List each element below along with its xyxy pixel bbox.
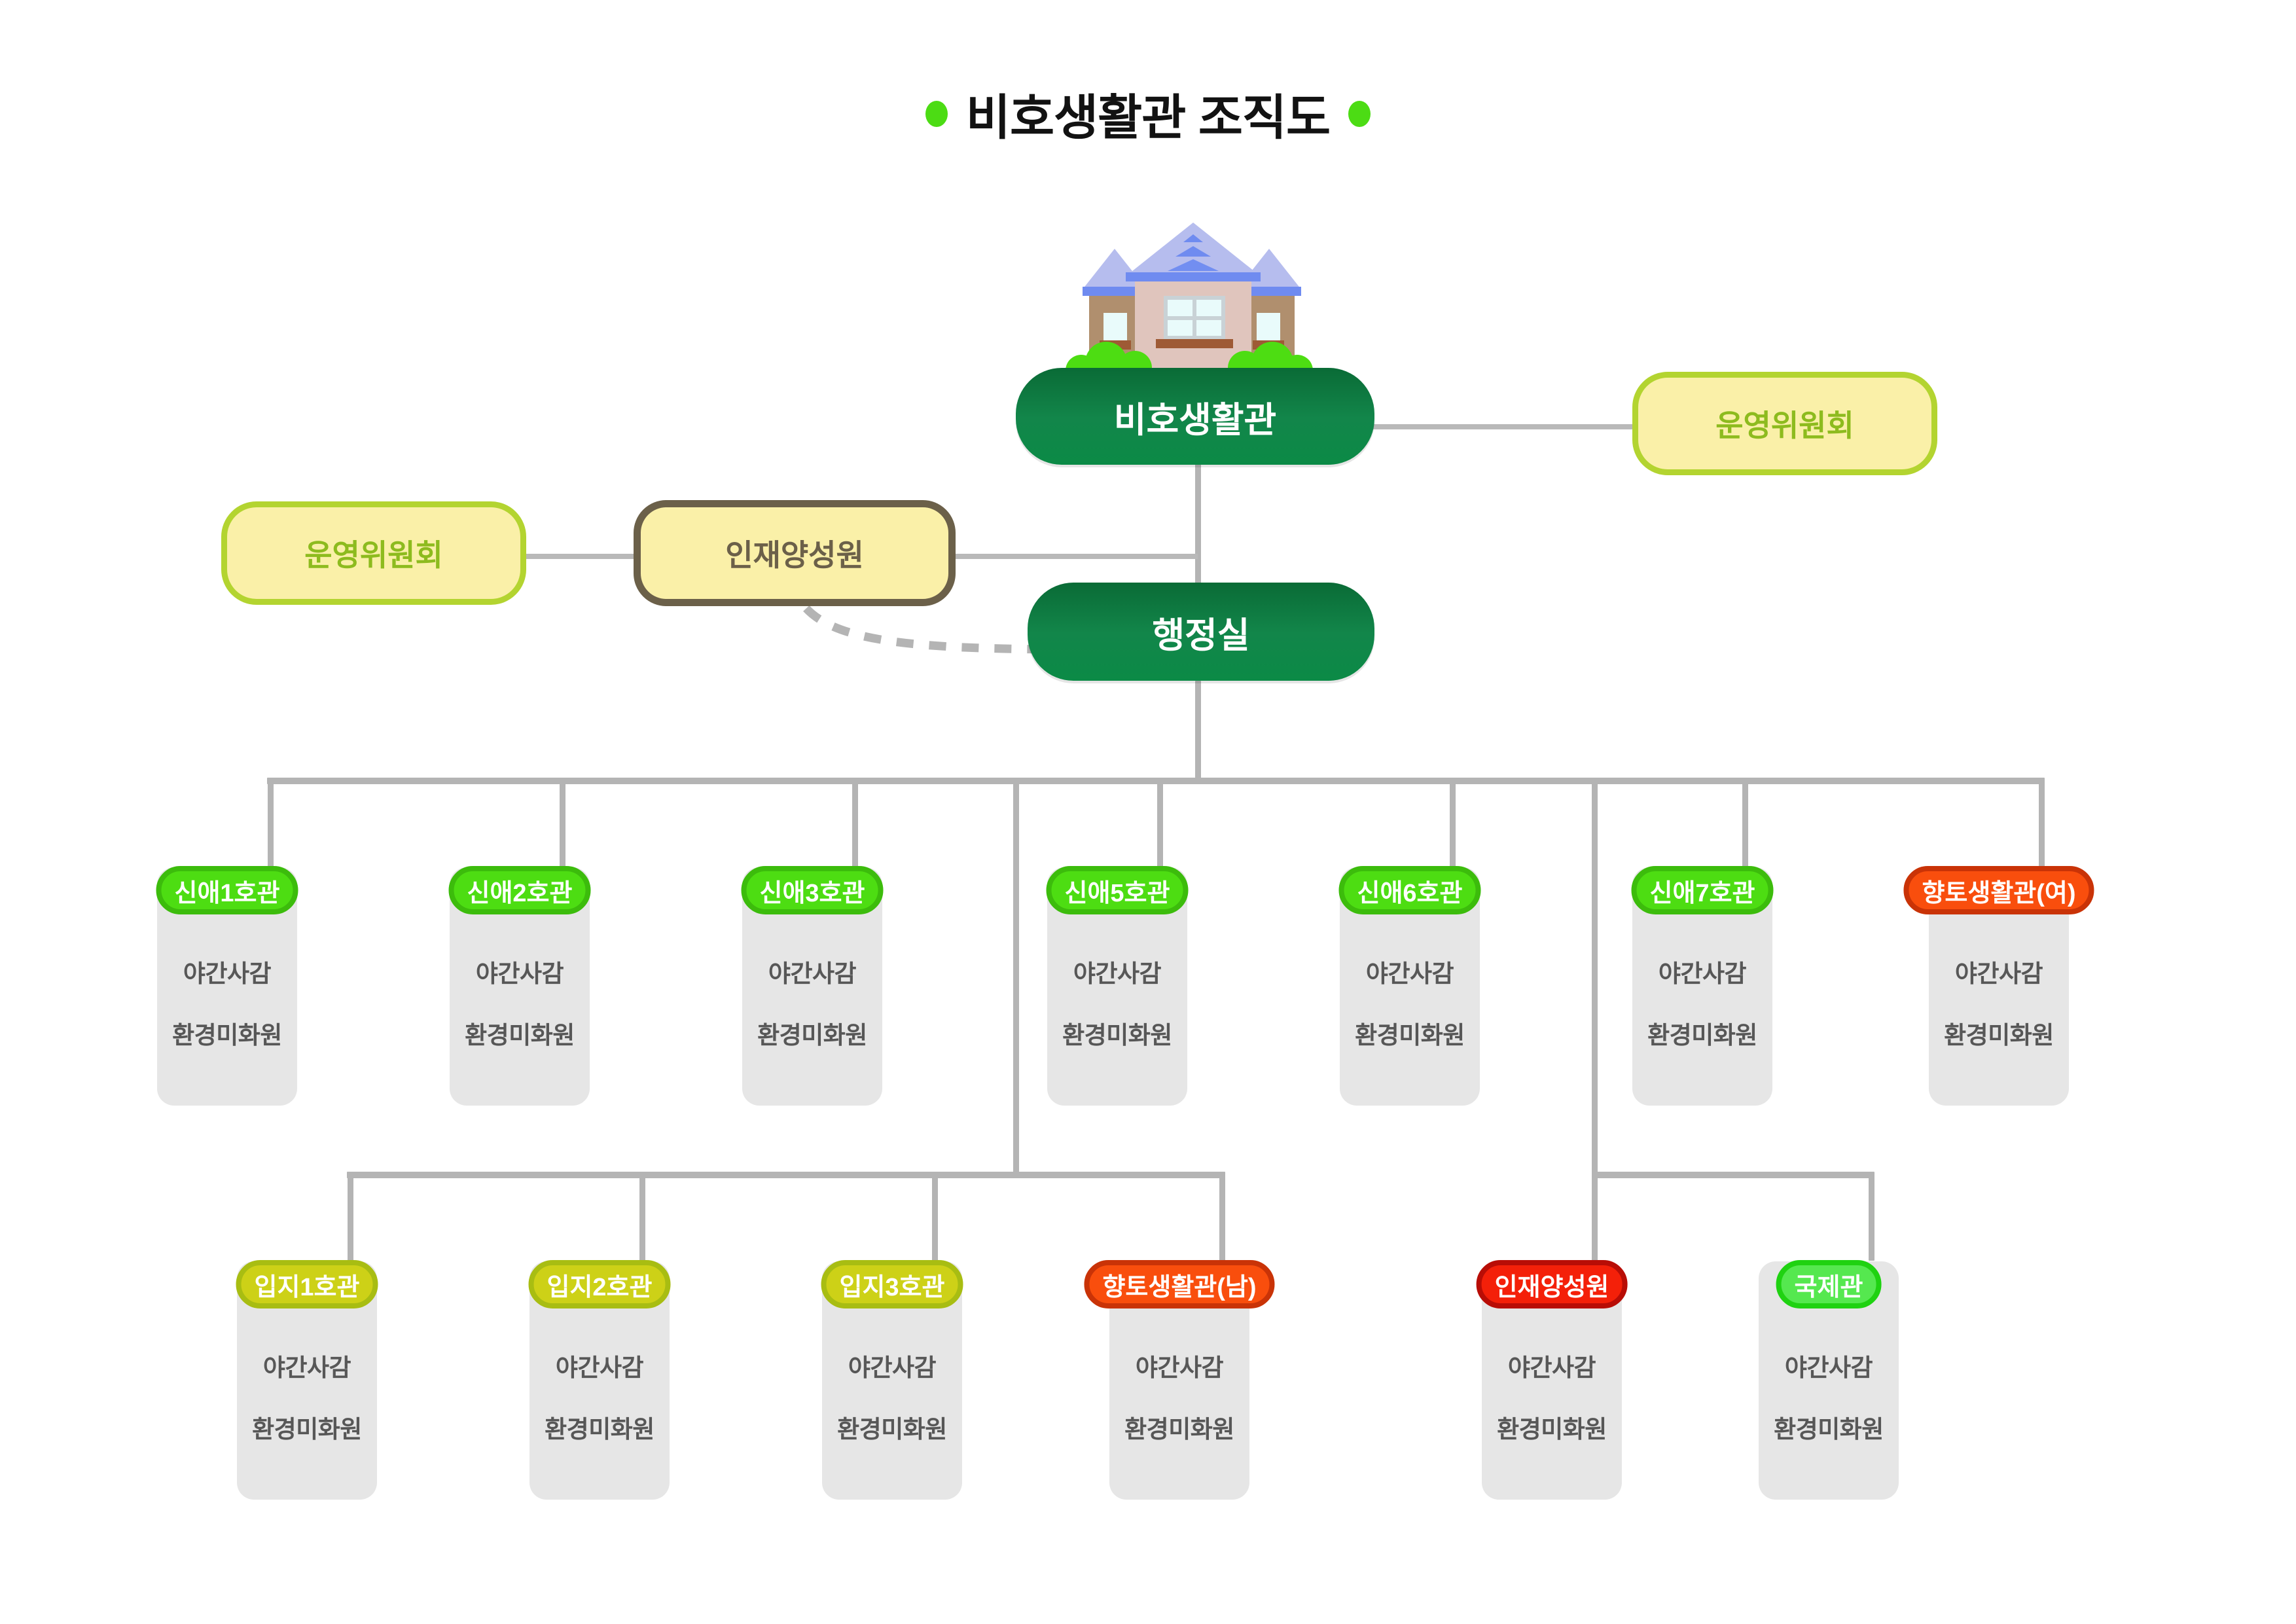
connector-drop-row1-3 xyxy=(852,779,858,867)
role-night: 야간사감 xyxy=(1136,1348,1223,1383)
role-cleaner: 환경미화원 xyxy=(545,1409,655,1445)
card-row1-5-header[interactable]: 신애7호관 xyxy=(1632,866,1774,914)
connector-drop-to-row2-bus xyxy=(1013,779,1019,1174)
card-row2-0[interactable]: 입지1호관 야간사감 환경미화원 xyxy=(237,1261,377,1500)
card-row2-0-header[interactable]: 입지1호관 xyxy=(236,1260,378,1308)
card-row1-3-header[interactable]: 신애5호관 xyxy=(1047,866,1189,914)
connector-drop-row2-1 xyxy=(348,1173,353,1261)
role-cleaner: 환경미화원 xyxy=(1355,1015,1465,1051)
connector-drop-row1-2 xyxy=(560,779,565,867)
card-row1-1-header[interactable]: 신애2호관 xyxy=(449,866,591,914)
card-row1-1-body: 야간사감 환경미화원 xyxy=(450,954,590,1051)
card-row1-3[interactable]: 신애5호관 야간사감 환경미화원 xyxy=(1047,867,1187,1106)
node-talent-center-label: 인재양성원 xyxy=(725,532,864,575)
role-cleaner: 환경미화원 xyxy=(1124,1409,1234,1445)
role-night: 야간사감 xyxy=(1366,954,1454,989)
node-root-label: 비호생활관 xyxy=(1114,391,1276,442)
card-row2-2-header[interactable]: 입지3호관 xyxy=(821,1260,963,1308)
card-row1-4-body: 야간사감 환경미화원 xyxy=(1340,954,1480,1051)
role-night: 야간사감 xyxy=(848,1348,936,1383)
role-night: 야간사감 xyxy=(768,954,856,989)
card-row2-3-body: 야간사감 환경미화원 xyxy=(1109,1348,1249,1445)
card-row2-1-title: 입지2호관 xyxy=(547,1267,653,1303)
connector-drop-row1-5 xyxy=(1450,779,1456,867)
card-row1-5-body: 야간사감 환경미화원 xyxy=(1632,954,1772,1051)
role-cleaner: 환경미화원 xyxy=(252,1409,362,1445)
card-row1-4[interactable]: 신애6호관 야간사감 환경미화원 xyxy=(1340,867,1480,1106)
card-row2-2[interactable]: 입지3호관 야간사감 환경미화원 xyxy=(822,1261,962,1500)
page-title-bar: 비호생활관 조직도 xyxy=(0,79,2296,149)
role-night: 야간사감 xyxy=(476,954,564,989)
title-dot-right-icon xyxy=(1348,101,1371,127)
role-night: 야간사감 xyxy=(1508,1348,1596,1383)
card-row2-2-title: 입지3호관 xyxy=(840,1267,945,1303)
role-night: 야간사감 xyxy=(1955,954,2043,989)
card-row1-1-title: 신애2호관 xyxy=(467,873,573,909)
connector-drop-row1-4 xyxy=(1157,779,1163,867)
card-row1-4-header[interactable]: 신애6호관 xyxy=(1339,866,1481,914)
card-row2-0-body: 야간사감 환경미화원 xyxy=(237,1348,377,1445)
connector-drop-row3-2 xyxy=(1869,1173,1874,1261)
connector-row3-bus xyxy=(1592,1172,1874,1178)
connector-main-bus xyxy=(267,778,2045,784)
card-row1-0-body: 야간사감 환경미화원 xyxy=(157,954,297,1051)
card-row1-3-body: 야간사감 환경미화원 xyxy=(1047,954,1187,1051)
node-admin-label: 행정실 xyxy=(1152,606,1249,658)
role-night: 야간사감 xyxy=(1073,954,1161,989)
card-row1-1[interactable]: 신애2호관 야간사감 환경미화원 xyxy=(450,867,590,1106)
role-cleaner: 환경미화원 xyxy=(1647,1015,1757,1051)
card-row1-5[interactable]: 신애7호관 야간사감 환경미화원 xyxy=(1632,867,1772,1106)
role-night: 야간사감 xyxy=(183,954,271,989)
card-row2-1-body: 야간사감 환경미화원 xyxy=(529,1348,670,1445)
node-committee-left[interactable]: 운영위원회 xyxy=(221,501,526,605)
role-cleaner: 환경미화원 xyxy=(1062,1015,1172,1051)
node-root[interactable]: 비호생활관 xyxy=(1016,368,1374,465)
card-row1-0-header[interactable]: 신애1호관 xyxy=(156,866,298,914)
connector-admin-to-bus xyxy=(1195,681,1201,783)
card-row1-6-title: 향토생활관(여) xyxy=(1922,873,2075,909)
card-row1-6-header[interactable]: 향토생활관(여) xyxy=(1903,866,2094,914)
connector-row2-bus xyxy=(347,1172,1225,1178)
card-row3-1-title: 국제관 xyxy=(1795,1267,1863,1303)
role-cleaner: 환경미화원 xyxy=(465,1015,575,1051)
card-row2-0-title: 입지1호관 xyxy=(255,1267,360,1303)
node-committee-right[interactable]: 운영위원회 xyxy=(1632,372,1937,475)
role-cleaner: 환경미화원 xyxy=(837,1409,947,1445)
card-row3-0-header[interactable]: 인재양성원 xyxy=(1477,1260,1628,1308)
connector-drop-row1-6 xyxy=(1742,779,1748,867)
role-night: 야간사감 xyxy=(263,1348,351,1383)
card-row3-1-body: 야간사감 환경미화원 xyxy=(1759,1348,1899,1445)
card-row1-2-header[interactable]: 신애3호관 xyxy=(742,866,884,914)
card-row1-6[interactable]: 향토생활관(여) 야간사감 환경미화원 xyxy=(1929,867,2069,1106)
connector-root-to-right-committee xyxy=(1372,424,1634,429)
card-row2-3-title: 향토생활관(남) xyxy=(1102,1267,1256,1303)
connector-drop-row2-3 xyxy=(932,1173,938,1261)
card-row1-0[interactable]: 신애1호관 야간사감 환경미화원 xyxy=(157,867,297,1106)
node-committee-left-label: 운영위원회 xyxy=(304,532,443,575)
dormitory-building-icon xyxy=(1064,216,1319,386)
title-dot-left-icon xyxy=(925,101,948,127)
card-row3-0-title: 인재양성원 xyxy=(1495,1267,1609,1303)
card-row3-1-header[interactable]: 국제관 xyxy=(1776,1260,1882,1308)
connector-drop-row1-1 xyxy=(268,779,274,867)
card-row2-1-header[interactable]: 입지2호관 xyxy=(529,1260,671,1308)
card-row1-6-body: 야간사감 환경미화원 xyxy=(1929,954,2069,1051)
card-row1-2-body: 야간사감 환경미화원 xyxy=(742,954,882,1051)
connector-left-committee-to-talent xyxy=(524,554,635,559)
card-row1-0-title: 신애1호관 xyxy=(175,873,280,909)
card-row3-1[interactable]: 국제관 야간사감 환경미화원 xyxy=(1759,1261,1899,1500)
card-row1-3-title: 신애5호관 xyxy=(1065,873,1170,909)
role-night: 야간사감 xyxy=(1785,1348,1873,1383)
role-cleaner: 환경미화원 xyxy=(172,1015,282,1051)
node-admin[interactable]: 행정실 xyxy=(1028,583,1374,681)
connector-drop-row2-4 xyxy=(1219,1173,1225,1261)
card-row1-4-title: 신애6호관 xyxy=(1357,873,1463,909)
card-row2-3-header[interactable]: 향토생활관(남) xyxy=(1084,1260,1274,1308)
card-row1-2[interactable]: 신애3호관 야간사감 환경미화원 xyxy=(742,867,882,1106)
role-night: 야간사감 xyxy=(1659,954,1746,989)
card-row1-5-title: 신애7호관 xyxy=(1650,873,1755,909)
card-row1-2-title: 신애3호관 xyxy=(760,873,865,909)
org-chart-canvas: 비호생활관 조직도 xyxy=(0,0,2296,1624)
page-title: 비호생활관 조직도 xyxy=(966,79,1330,149)
card-row3-0-body: 야간사감 환경미화원 xyxy=(1482,1348,1622,1445)
connector-drop-to-row3-bus xyxy=(1592,779,1598,1174)
role-cleaner: 환경미화원 xyxy=(1944,1015,2054,1051)
connector-talent-to-root-stem xyxy=(953,554,1198,559)
connector-drop-row1-7 xyxy=(2039,779,2045,867)
node-committee-right-label: 운영위원회 xyxy=(1715,402,1854,445)
role-cleaner: 환경미화원 xyxy=(757,1015,867,1051)
card-row2-2-body: 야간사감 환경미화원 xyxy=(822,1348,962,1445)
card-row2-1[interactable]: 입지2호관 야간사감 환경미화원 xyxy=(529,1261,670,1500)
card-row2-3[interactable]: 향토생활관(남) 야간사감 환경미화원 xyxy=(1109,1261,1249,1500)
connector-drop-row3-1 xyxy=(1592,1173,1598,1261)
card-row3-0[interactable]: 인재양성원 야간사감 환경미화원 xyxy=(1482,1261,1622,1500)
connector-drop-row2-2 xyxy=(639,1173,645,1261)
role-cleaner: 환경미화원 xyxy=(1774,1409,1884,1445)
node-talent-center[interactable]: 인재양성원 xyxy=(634,500,956,606)
role-night: 야간사감 xyxy=(556,1348,643,1383)
role-cleaner: 환경미화원 xyxy=(1497,1409,1607,1445)
